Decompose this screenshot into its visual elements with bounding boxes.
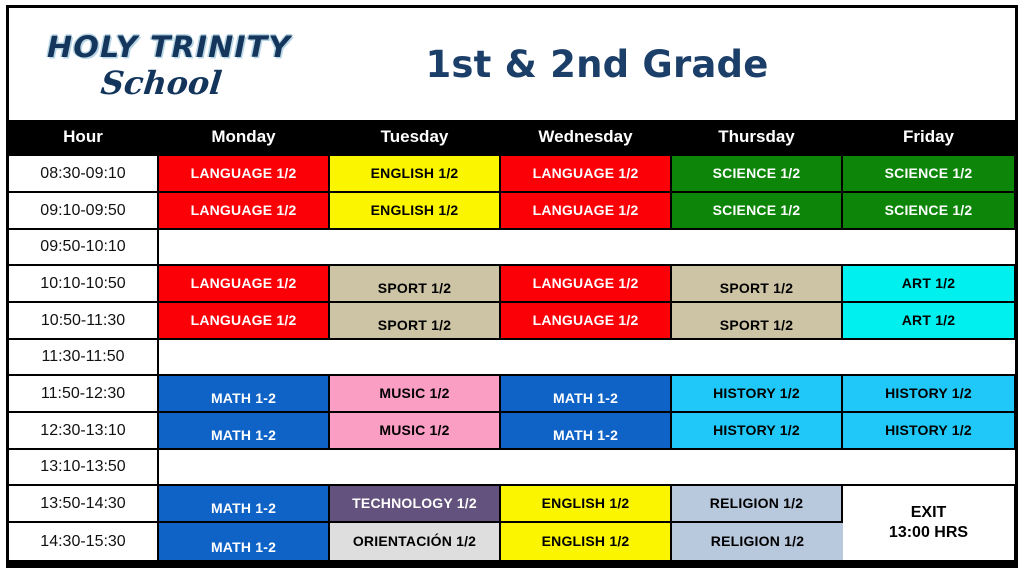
exit-note-cell: EXIT13:00 HRS bbox=[843, 486, 1014, 560]
lesson-cell[interactable]: ART 1/2 bbox=[843, 303, 1014, 340]
hour-cell: 13:50-14:30 bbox=[9, 486, 159, 523]
column-header-monday: Monday bbox=[159, 120, 330, 156]
school-logo: HOLY TRINITY School bbox=[9, 8, 299, 120]
lesson-cell[interactable]: SPORT 1/2 bbox=[330, 266, 501, 303]
table-row: 09:10-09:50LANGUAGE 1/2ENGLISH 1/2LANGUA… bbox=[9, 193, 1015, 230]
column-header-hour: Hour bbox=[9, 120, 159, 156]
lesson-cell[interactable]: SPORT 1/2 bbox=[330, 303, 501, 340]
hour-cell: 10:10-10:50 bbox=[9, 266, 159, 303]
lesson-cell[interactable]: MUSIC 1/2 bbox=[330, 376, 501, 413]
table-header-row: HourMondayTuesdayWednesdayThursdayFriday bbox=[9, 120, 1015, 156]
lesson-cell[interactable]: MATH 1-2 bbox=[159, 486, 330, 523]
lesson-cell[interactable]: RELIGION 1/2 bbox=[672, 486, 843, 523]
lesson-cell[interactable]: HISTORY 1/2 bbox=[672, 413, 843, 450]
lesson-cell[interactable]: MATH 1-2 bbox=[159, 376, 330, 413]
lesson-cell[interactable]: SCIENCE 1/2 bbox=[672, 193, 843, 230]
logo-script-word: School bbox=[99, 64, 224, 102]
lesson-cell[interactable]: MUSIC 1/2 bbox=[330, 413, 501, 450]
hour-cell: 08:30-09:10 bbox=[9, 156, 159, 193]
break-row: 11:30-11:50 bbox=[9, 340, 1015, 376]
timetable-sheet: HOLY TRINITY School 1st & 2nd Grade Hour… bbox=[0, 0, 1024, 576]
hour-cell: 11:30-11:50 bbox=[9, 340, 159, 376]
timetable-frame: HOLY TRINITY School 1st & 2nd Grade Hour… bbox=[6, 5, 1018, 568]
lesson-cell[interactable]: TECHNOLOGY 1/2 bbox=[330, 486, 501, 523]
lesson-cell[interactable]: SPORT 1/2 bbox=[672, 303, 843, 340]
column-header-thursday: Thursday bbox=[672, 120, 843, 156]
lesson-cell[interactable]: HISTORY 1/2 bbox=[843, 376, 1014, 413]
hour-cell: 09:10-09:50 bbox=[9, 193, 159, 230]
hour-cell: 13:10-13:50 bbox=[9, 450, 159, 486]
table-row: 08:30-09:10LANGUAGE 1/2ENGLISH 1/2LANGUA… bbox=[9, 156, 1015, 193]
hour-cell: 14:30-15:30 bbox=[9, 523, 159, 560]
hour-cell: 09:50-10:10 bbox=[9, 230, 159, 266]
lesson-cell[interactable]: LANGUAGE 1/2 bbox=[159, 156, 330, 193]
break-row: 09:50-10:10 bbox=[9, 230, 1015, 266]
lesson-cell[interactable]: MATH 1-2 bbox=[501, 413, 672, 450]
lesson-cell[interactable]: MATH 1-2 bbox=[159, 523, 330, 560]
break-row: 13:10-13:50 bbox=[9, 450, 1015, 486]
lesson-cell[interactable]: SCIENCE 1/2 bbox=[843, 156, 1014, 193]
column-header-tuesday: Tuesday bbox=[330, 120, 501, 156]
break-span-cell bbox=[159, 340, 1015, 376]
column-header-wednesday: Wednesday bbox=[501, 120, 672, 156]
lesson-cell[interactable]: LANGUAGE 1/2 bbox=[501, 303, 672, 340]
lesson-cell[interactable]: LANGUAGE 1/2 bbox=[159, 193, 330, 230]
table-row: 10:10-10:50LANGUAGE 1/2SPORT 1/2LANGUAGE… bbox=[9, 266, 1015, 303]
page-title: 1st & 2nd Grade bbox=[299, 43, 1015, 86]
break-span-cell bbox=[159, 230, 1015, 266]
table-row: 12:30-13:10MATH 1-2MUSIC 1/2MATH 1-2HIST… bbox=[9, 413, 1015, 450]
lesson-cell[interactable]: LANGUAGE 1/2 bbox=[159, 266, 330, 303]
hour-cell: 10:50-11:30 bbox=[9, 303, 159, 340]
timetable-grid: HourMondayTuesdayWednesdayThursdayFriday… bbox=[9, 120, 1015, 565]
banner: HOLY TRINITY School 1st & 2nd Grade bbox=[9, 8, 1015, 120]
lesson-cell[interactable]: ENGLISH 1/2 bbox=[501, 486, 672, 523]
lesson-cell[interactable]: LANGUAGE 1/2 bbox=[159, 303, 330, 340]
lesson-cell[interactable]: SPORT 1/2 bbox=[672, 266, 843, 303]
lesson-cell[interactable]: LANGUAGE 1/2 bbox=[501, 266, 672, 303]
lesson-cell[interactable]: MATH 1-2 bbox=[159, 413, 330, 450]
lesson-cell[interactable]: MATH 1-2 bbox=[501, 376, 672, 413]
exit-time: 13:00 HRS bbox=[889, 524, 968, 542]
table-row: 10:50-11:30LANGUAGE 1/2SPORT 1/2LANGUAGE… bbox=[9, 303, 1015, 340]
lesson-cell[interactable]: LANGUAGE 1/2 bbox=[501, 156, 672, 193]
break-span-cell bbox=[159, 450, 1015, 486]
hour-cell: 12:30-13:10 bbox=[9, 413, 159, 450]
table-row: 11:50-12:30MATH 1-2MUSIC 1/2MATH 1-2HIST… bbox=[9, 376, 1015, 413]
lesson-cell[interactable]: ENGLISH 1/2 bbox=[330, 193, 501, 230]
exit-label: EXIT bbox=[911, 504, 947, 522]
lesson-cell[interactable]: ART 1/2 bbox=[843, 266, 1014, 303]
column-header-friday: Friday bbox=[843, 120, 1014, 156]
logo-wordmark: HOLY TRINITY bbox=[47, 30, 291, 64]
table-row: 13:50-14:30MATH 1-2TECHNOLOGY 1/2ENGLISH… bbox=[9, 486, 1015, 523]
hour-cell: 11:50-12:30 bbox=[9, 376, 159, 413]
lesson-cell[interactable]: LANGUAGE 1/2 bbox=[501, 193, 672, 230]
lesson-cell[interactable]: SCIENCE 1/2 bbox=[843, 193, 1014, 230]
lesson-cell[interactable]: ORIENTACIÓN 1/2 bbox=[330, 523, 501, 560]
lesson-cell[interactable]: HISTORY 1/2 bbox=[672, 376, 843, 413]
lesson-cell[interactable]: ENGLISH 1/2 bbox=[501, 523, 672, 560]
lesson-cell[interactable]: HISTORY 1/2 bbox=[843, 413, 1014, 450]
lesson-cell[interactable]: SCIENCE 1/2 bbox=[672, 156, 843, 193]
lesson-cell[interactable]: ENGLISH 1/2 bbox=[330, 156, 501, 193]
lesson-cell[interactable]: RELIGION 1/2 bbox=[672, 523, 843, 560]
